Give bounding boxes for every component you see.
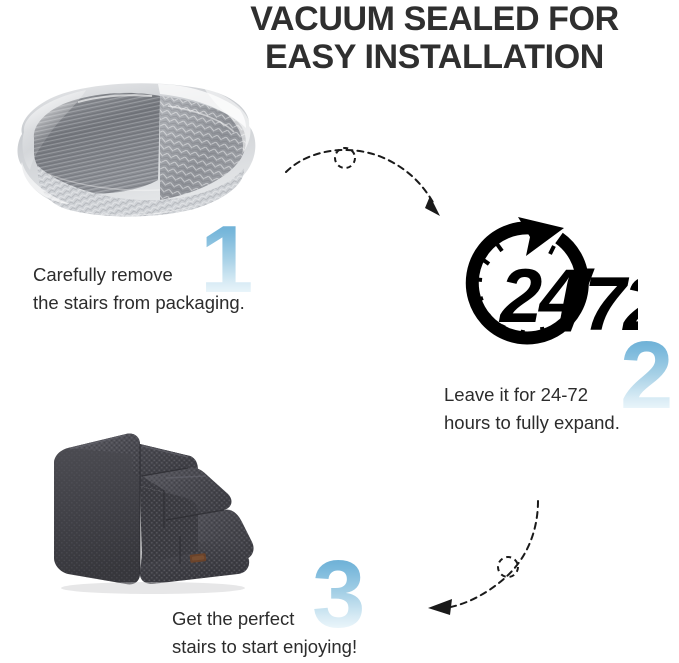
step-3-caption: Get the perfect stairs to start enjoying… xyxy=(172,605,357,661)
step-1-caption: Carefully remove the stairs from packagi… xyxy=(33,261,245,317)
step-2-caption: Leave it for 24-72 hours to fully expand… xyxy=(444,381,620,437)
pet-stairs-photo xyxy=(38,424,260,596)
step-2-caption-line-2: hours to fully expand. xyxy=(444,409,620,437)
arrow-step1-to-step2 xyxy=(282,140,452,230)
step-number-2: 2 xyxy=(620,328,671,424)
step-2-caption-line-1: Leave it for 24-72 xyxy=(444,381,620,409)
clock-24-72-icon: 24 / 72 xyxy=(438,212,638,357)
vacuum-sealed-package-photo xyxy=(8,62,260,227)
page-title: VACUUM SEALED FOR EASY INSTALLATION xyxy=(190,0,679,76)
step-1-caption-line-1: Carefully remove xyxy=(33,261,245,289)
arrow-step2-to-step3 xyxy=(420,495,560,620)
step-3-caption-line-1: Get the perfect xyxy=(172,605,357,633)
step-1-caption-line-2: the stairs from packaging. xyxy=(33,289,245,317)
page-title-line-1: VACUUM SEALED FOR xyxy=(190,0,679,38)
page-title-line-2: EASY INSTALLATION xyxy=(190,38,679,76)
infographic-page: VACUUM SEALED FOR EASY INSTALLATION xyxy=(0,0,679,663)
step-3-caption-line-2: stairs to start enjoying! xyxy=(172,633,357,661)
